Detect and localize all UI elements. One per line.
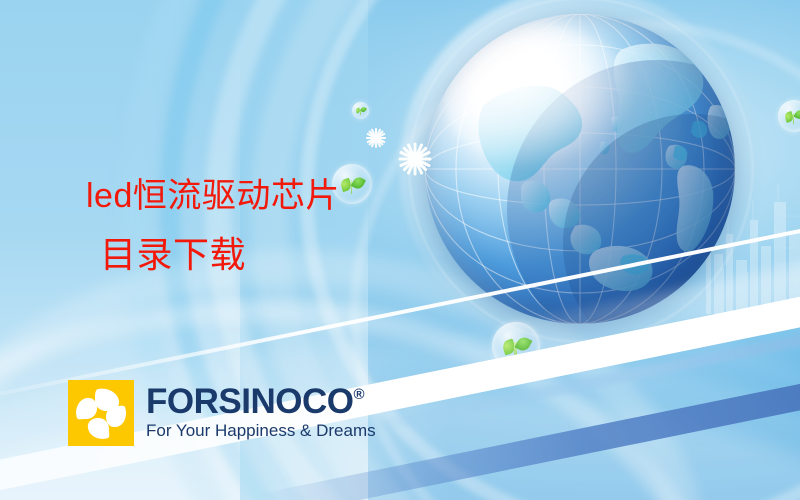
seedling-icon	[502, 332, 530, 360]
title-line-1: led恒流驱动芯片	[86, 166, 340, 226]
earth-globe	[425, 14, 735, 324]
title-line-2: 目录下载	[86, 226, 340, 286]
seedling-icon	[785, 107, 800, 126]
logo-wordmark-text: FORSINOCO	[146, 384, 353, 420]
slide-canvas: led恒流驱动芯片 目录下载 FORSINOCO ® For Your Happ…	[0, 0, 800, 500]
brand-logo: FORSINOCO ® For Your Happiness & Dreams	[68, 380, 376, 446]
registered-trademark-icon: ®	[353, 387, 364, 402]
logo-wordmark: FORSINOCO ®	[146, 384, 376, 420]
seedling-icon	[356, 106, 366, 116]
page-title: led恒流驱动芯片 目录下载	[86, 166, 340, 286]
bubble-small-top	[352, 102, 369, 119]
globe-outer-ring	[409, 0, 753, 342]
logo-tagline: For Your Happiness & Dreams	[146, 421, 376, 441]
logo-text-group: FORSINOCO ® For Your Happiness & Dreams	[146, 380, 376, 441]
bubble-medium-lower	[492, 322, 540, 370]
seedling-icon	[340, 172, 363, 195]
four-petal-pinwheel-icon	[68, 380, 134, 446]
